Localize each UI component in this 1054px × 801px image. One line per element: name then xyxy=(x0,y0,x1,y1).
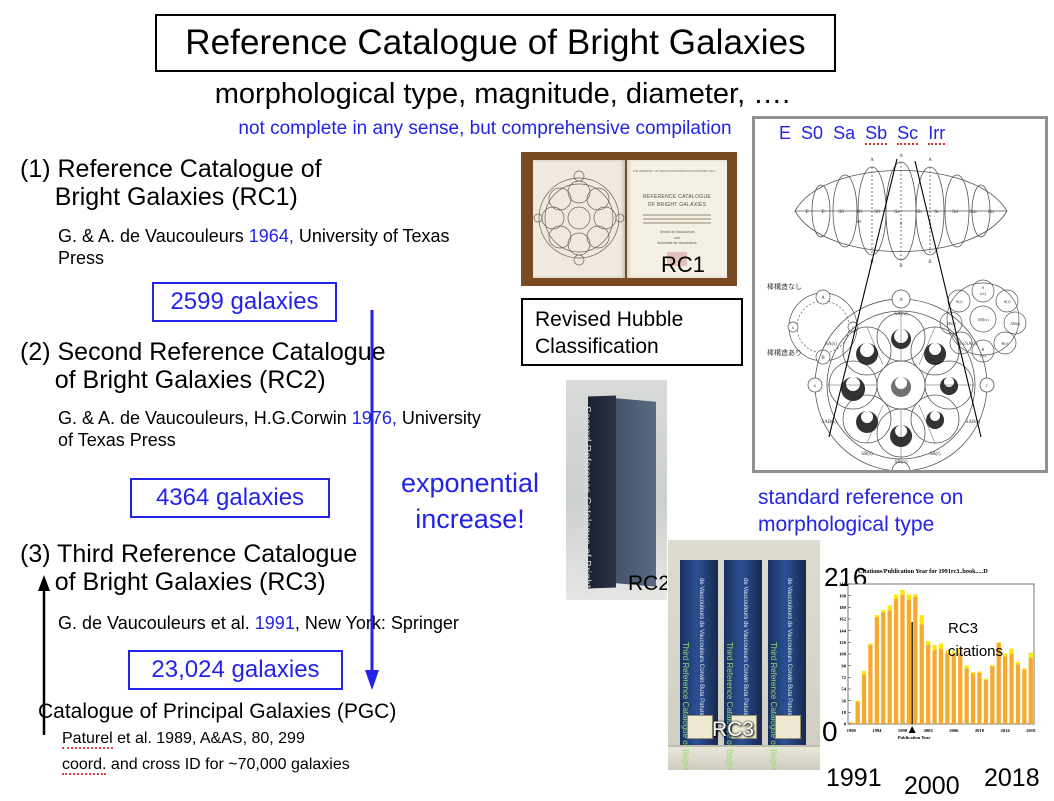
hubble-seq-5: Sa xyxy=(894,209,900,215)
entry-1-count-label: 2599 galaxies xyxy=(170,288,318,316)
chart-bar-1992 xyxy=(862,675,866,724)
svg-text:B: B xyxy=(928,260,932,265)
entry-3-heading: (3) Third Reference Catalogue of Bright … xyxy=(20,540,357,596)
entry-1-year: 1964, xyxy=(249,226,294,246)
chart-ytick-18: 18 xyxy=(841,710,846,715)
hubble-seq-10: Im xyxy=(988,209,995,215)
entry-3-count-box: 23,024 galaxies xyxy=(128,650,343,690)
entry-3-count-label: 23,024 galaxies xyxy=(151,656,319,684)
chart-xtick-1994: 1994 xyxy=(872,728,882,733)
entry-2-authors-pre: G. & A. de Vaucouleurs, H.G.Corwin xyxy=(58,408,352,428)
exponential-increase-note: exponential increase! xyxy=(380,465,560,538)
chart-ytick-216: 216 xyxy=(839,582,847,587)
hubble-seq-2: S0 xyxy=(838,209,844,215)
chart-bar-top-1996 xyxy=(888,605,892,610)
rc1-page-author-3: Antoinette de Vaucouleurs xyxy=(627,241,727,245)
chart-bar-top-1995 xyxy=(881,610,885,613)
revised-hubble-line1: Revised Hubble xyxy=(535,307,729,334)
svg-text:B: B xyxy=(899,264,903,269)
svg-text:B: B xyxy=(899,470,903,473)
chart-bar-2004 xyxy=(939,649,943,724)
pgc-ref1-name: Paturel xyxy=(62,730,113,749)
chart-bar-2011 xyxy=(984,680,988,724)
chart-bar-2015 xyxy=(1009,654,1013,724)
svg-text:A(r): A(r) xyxy=(1004,299,1012,304)
svg-text:(rs): (rs) xyxy=(980,291,986,296)
chart-bar-2007 xyxy=(958,653,962,724)
rc1-hubble-wheel-figure xyxy=(533,160,625,278)
chart-bar-2017 xyxy=(1022,670,1026,724)
entry-3-authors: G. de Vaucouleurs et al. 1991, New York:… xyxy=(58,613,558,635)
rc3-photo-label: RC3 xyxy=(712,718,754,742)
hubble-seq-4: S0 xyxy=(874,209,880,215)
chart-bar-2018 xyxy=(1029,658,1033,724)
revised-hubble-text: Revised Hubble Classification xyxy=(535,307,729,361)
svg-text:AB(rs): AB(rs) xyxy=(977,317,989,322)
chart-bar-top-2016 xyxy=(1016,662,1020,665)
svg-text:A: A xyxy=(928,158,932,163)
slide-root: Reference Catalogue of Bright Galaxies m… xyxy=(0,0,1054,791)
chart-bar-top-2009 xyxy=(971,672,975,673)
hubble-jp-label-1: 棒構造なし xyxy=(767,282,802,291)
svg-text:s: s xyxy=(814,384,816,389)
chart-bar-top-2010 xyxy=(977,672,981,673)
page-subtitle: morphological type, magnitude, diameter,… xyxy=(0,78,1005,111)
chart-xtick-2010: 2010 xyxy=(975,728,985,733)
chart-ytick-0: 0 xyxy=(844,722,847,727)
chart-bar-2008 xyxy=(965,668,969,724)
svg-text:AB(r): AB(r) xyxy=(1010,321,1020,326)
chart-bar-1996 xyxy=(888,611,892,724)
entry-3-authors-pre: G. de Vaucouleurs et al. xyxy=(58,613,255,633)
rc1-photo-label: RC1 xyxy=(661,252,705,278)
chart-bar-top-2015 xyxy=(1009,649,1013,654)
chart-bar-top-2000 xyxy=(913,594,917,597)
pgc-ref2-rest: and cross ID for ~70,000 galaxies xyxy=(106,756,349,773)
pgc-ref1-rest: et al. 1989, A&AS, 80, 299 xyxy=(113,730,305,747)
chart-title: Citations/Publication Year for 1991rc3..… xyxy=(858,568,988,575)
rc3-spine-title-1: Third Reference Catalogue of Bright Gala… xyxy=(681,642,690,770)
entry-1-heading: (1) Reference Catalogue of Bright Galaxi… xyxy=(20,155,322,211)
rc1-page-left xyxy=(533,160,625,278)
rc3-shelf xyxy=(668,745,820,770)
rc3-spine-title-3: Third Reference Catalogue of Bright Gala… xyxy=(769,642,778,770)
page-title: Reference Catalogue of Bright Galaxies xyxy=(185,23,806,63)
chart-bar-top-1994 xyxy=(875,615,879,617)
chart-year-marker-arrow-icon xyxy=(909,726,916,733)
rc3-book-volume-3: Third Reference Catalogue of Bright Gala… xyxy=(768,560,806,745)
pgc-reference-2: coord. and cross ID for ~70,000 galaxies xyxy=(62,756,350,774)
chart-bar-top-2018 xyxy=(1029,653,1033,658)
rc1-book-photo: THE UNIVERSITY OF TEXAS MONOGRAPHS IN AS… xyxy=(521,152,737,286)
chart-bar-top-1998 xyxy=(900,590,904,595)
rc2-photo-label: RC2 xyxy=(628,572,667,596)
hubble-jp-label-2: 棒構造あり xyxy=(767,348,802,357)
chart-bar-top-2014 xyxy=(1003,653,1007,656)
chart-xtick-2006: 2006 xyxy=(949,728,959,733)
chart-bar-top-2002 xyxy=(926,641,930,645)
title-box: Reference Catalogue of Bright Galaxies xyxy=(155,14,836,72)
entry-2-count-box: 4364 galaxies xyxy=(130,478,330,518)
hubble-seq-7: Sc xyxy=(934,209,940,215)
chart-xtick-2002: 2002 xyxy=(924,728,934,733)
chart-bar-2009 xyxy=(971,673,975,724)
pgc-reference-1: Paturel et al. 1989, A&AS, 80, 299 xyxy=(62,730,305,748)
chart-annotation: RC3 citations xyxy=(948,618,1003,663)
hubble-classification-diagram: E S0 Sa Sb Sc Irr xyxy=(752,116,1048,473)
svg-text:B: B xyxy=(982,347,985,352)
svg-text:S: S xyxy=(900,221,903,226)
chart-ytick-144: 144 xyxy=(839,628,847,633)
rc3-books-photo: Third Reference Catalogue of Bright Gala… xyxy=(668,540,820,770)
chart-xtick-2018: 2018 xyxy=(1026,728,1036,733)
svg-text:SAB(s): SAB(s) xyxy=(821,420,836,425)
chart-ytick-108: 108 xyxy=(839,652,847,657)
chart-ytick-72: 72 xyxy=(841,675,846,680)
chart-bar-2012 xyxy=(990,666,994,724)
svg-text:A: A xyxy=(899,154,903,159)
hubble-seq-6: Sb xyxy=(916,209,922,215)
chart-callout-2018: 2018 xyxy=(984,764,1040,793)
pgc-title: Catalogue of Principal Galaxies (PGC) xyxy=(38,700,396,724)
svg-text:AB(s): AB(s) xyxy=(946,321,956,326)
chart-bar-top-1990 xyxy=(849,722,853,723)
svg-text:A(s): A(s) xyxy=(955,299,963,304)
chart-bar-top-2004 xyxy=(939,644,943,649)
rc1-page-author-2: and xyxy=(627,236,727,240)
hubble-seq-0: E xyxy=(805,209,809,215)
svg-text:A: A xyxy=(821,296,825,301)
chart-bar-1994 xyxy=(875,617,879,724)
chart-plot-area: 01836547290108126144162180198216 1990199… xyxy=(826,576,1044,761)
entry-2-count-label: 4364 galaxies xyxy=(156,484,304,512)
chart-bar-2016 xyxy=(1016,664,1020,724)
entry-1-authors: G. & A. de Vaucouleurs 1964, University … xyxy=(58,226,488,269)
svg-text:A: A xyxy=(870,158,874,163)
standard-reference-line2: morphological type xyxy=(758,511,1048,538)
chart-bar-2001 xyxy=(920,624,924,724)
standard-reference-caption: standard reference on morphological type xyxy=(758,484,1048,539)
entry-3-year: 1991 xyxy=(255,613,295,633)
entry-1-count-box: 2599 galaxies xyxy=(152,282,337,322)
chart-bar-1999 xyxy=(907,600,911,724)
chart-bar-2003 xyxy=(932,650,936,724)
rc3-label-sticker-1 xyxy=(687,715,713,739)
chart-xtick-1998: 1998 xyxy=(898,728,908,733)
svg-text:B(r): B(r) xyxy=(1002,341,1009,346)
chart-bar-top-2017 xyxy=(1022,668,1026,669)
hubble-seq-8: Sd xyxy=(952,209,958,215)
chart-ytick-162: 162 xyxy=(839,617,847,622)
rc1-page-author-1: Gerard de Vaucouleurs xyxy=(627,230,727,234)
rc1-page-title-line1: REFERENCE CATALOGUE xyxy=(627,194,727,200)
entry-1-authors-pre: G. & A. de Vaucouleurs xyxy=(58,226,249,246)
chart-bar-top-2003 xyxy=(932,645,936,650)
svg-text:SA(rs): SA(rs) xyxy=(894,312,908,317)
chart-bar-2005 xyxy=(945,653,949,724)
pgc-ref2-word: coord. xyxy=(62,756,106,775)
rc3-citation-chart: 216 0 Citations/Publication Year for 199… xyxy=(826,566,1044,791)
up-arrow-icon xyxy=(36,575,52,735)
svg-text:SB(s): SB(s) xyxy=(861,452,873,457)
chart-ytick-180: 180 xyxy=(839,605,847,610)
chart-bar-2014 xyxy=(1003,657,1007,724)
down-arrow-icon xyxy=(364,310,380,690)
revised-hubble-line2: Classification xyxy=(535,334,729,361)
chart-ytick-126: 126 xyxy=(839,640,847,645)
chart-callout-2000: 2000 xyxy=(904,772,960,801)
chart-bar-top-1999 xyxy=(907,594,911,599)
rc3-spine-title-2: Third Reference Catalogue of Bright Gala… xyxy=(725,642,734,770)
svg-text:s: s xyxy=(792,326,794,331)
chart-bar-1995 xyxy=(881,613,885,724)
entry-2-authors: G. & A. de Vaucouleurs, H.G.Corwin 1976,… xyxy=(58,408,498,451)
svg-text:SA(s): SA(s) xyxy=(825,342,837,347)
chart-callout-1991: 1991 xyxy=(826,764,882,793)
svg-text:SA(r): SA(r) xyxy=(965,342,977,347)
standard-reference-line1: standard reference on xyxy=(758,484,1048,511)
svg-text:SB(r): SB(r) xyxy=(929,452,940,457)
rc2-spine-text: Second Reference Catalogue of Bright Gal… xyxy=(581,406,592,576)
svg-text:SB(rs): SB(rs) xyxy=(894,460,907,465)
rc3-label-sticker-3 xyxy=(775,715,801,739)
hubble-diagram-svg: E E S0 S0 S0 Sa Sb Sc Sd Sm Im S0 S S A … xyxy=(755,137,1047,473)
chart-bar-1998 xyxy=(900,595,904,724)
chart-bar-top-1992 xyxy=(862,671,866,675)
entry-2-heading: (2) Second Reference Catalogue of Bright… xyxy=(20,338,386,394)
chart-bar-2010 xyxy=(977,673,981,724)
chart-x-axis: 19901994199820022006201020142018 xyxy=(847,728,1036,733)
chart-xaxis-label: Publication Year xyxy=(898,735,931,740)
revised-hubble-classification-box: Revised Hubble Classification xyxy=(521,298,743,366)
chart-bar-top-2011 xyxy=(984,679,988,680)
chart-bar-top-2001 xyxy=(920,615,924,624)
chart-xtick-1990: 1990 xyxy=(847,728,857,733)
chart-bar-1993 xyxy=(868,645,872,724)
chart-ytick-198: 198 xyxy=(839,593,847,598)
rc2-book-spine xyxy=(588,396,616,589)
rc2-book-photo: Second Reference Catalogue of Bright Gal… xyxy=(566,380,667,600)
svg-text:A: A xyxy=(982,285,985,290)
chart-bar-2006 xyxy=(952,654,956,724)
chart-bar-top-1993 xyxy=(868,644,872,645)
hubble-seq-9: Sm xyxy=(969,209,977,215)
chart-annotation-line2: citations xyxy=(948,641,1003,664)
chart-bar-top-2012 xyxy=(990,665,994,666)
rc1-page-title-line2: OF BRIGHT GALAXIES xyxy=(627,202,727,208)
chart-bar-2000 xyxy=(913,597,917,724)
chart-bar-2002 xyxy=(926,645,930,724)
chart-xtick-2014: 2014 xyxy=(1001,728,1011,733)
chart-bar-1991 xyxy=(856,702,860,724)
rc2-book-cover xyxy=(616,398,656,586)
chart-annotation-line1: RC3 xyxy=(948,618,1003,641)
rc1-page-header: THE UNIVERSITY OF TEXAS MONOGRAPHS IN AS… xyxy=(633,170,715,173)
chart-bar-1997 xyxy=(894,599,898,724)
svg-text:A: A xyxy=(899,298,903,303)
hubble-seq-3: S0 xyxy=(856,209,862,215)
svg-text:S0: S0 xyxy=(857,219,863,224)
chart-ytick-90: 90 xyxy=(841,663,846,668)
chart-ytick-54: 54 xyxy=(841,687,846,692)
hubble-seq-1: E xyxy=(821,209,825,215)
chart-bar-top-1997 xyxy=(894,594,898,599)
chart-ytick-36: 36 xyxy=(841,698,846,703)
chart-bar-top-2008 xyxy=(965,666,969,669)
chart-bar-top-1991 xyxy=(856,701,860,702)
